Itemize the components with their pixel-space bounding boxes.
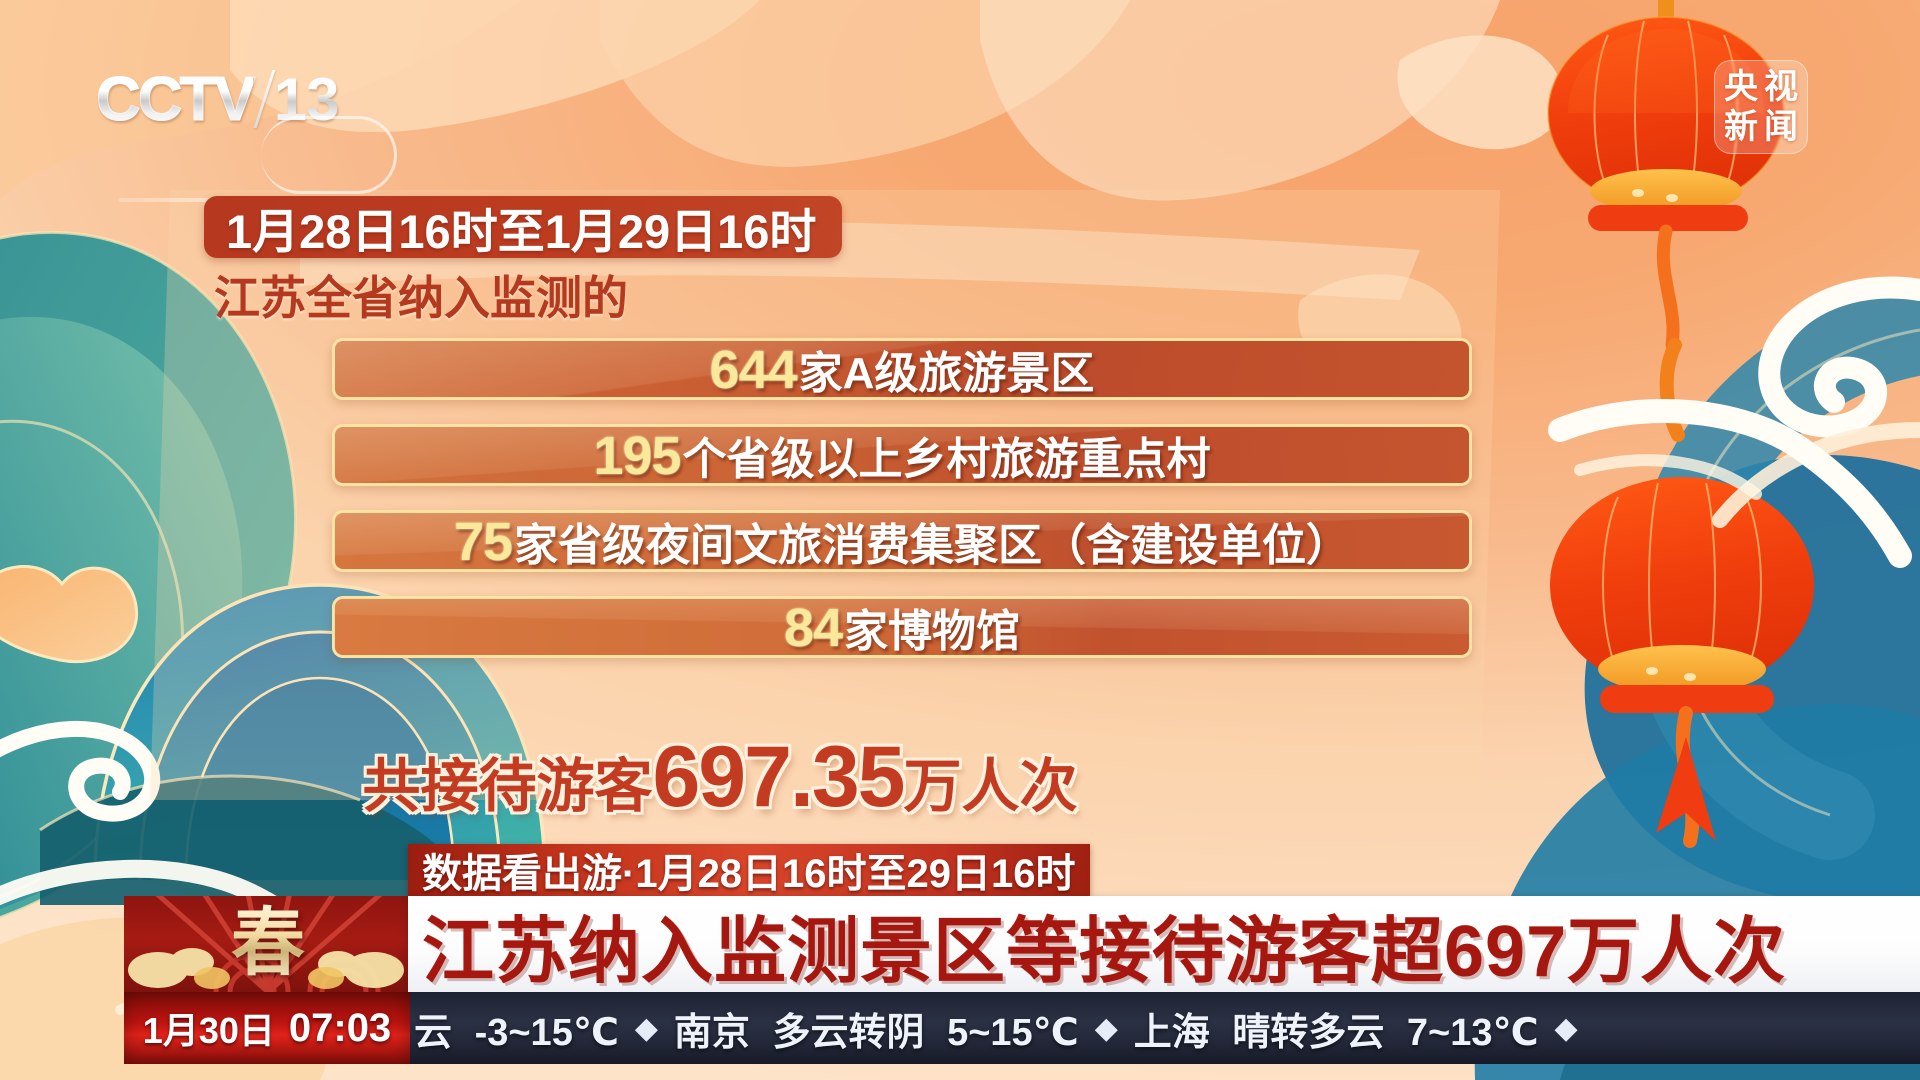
headline-text: 江苏纳入监测景区等接待游客超697万人次 <box>422 892 1786 997</box>
stat-bar-label: 75 家省级夜间文旅消费集聚区（含建设单位） <box>454 510 1350 572</box>
broadcast-screen: CCTV 13 新闻 央 视 新 闻 1月28日16时至1月29日16时 江苏全… <box>0 0 1920 1080</box>
weather-city: 南京 <box>674 1012 750 1054</box>
total-prefix: 共接待游客 <box>362 739 652 823</box>
lower-third-kicker: 数据看出游·1月28日16时至29日16时 <box>408 844 1090 896</box>
weather-separator-icon: ◆ <box>1095 1011 1118 1046</box>
weather-separator-icon: ◆ <box>635 1011 658 1046</box>
date-range-text: 1月28日16时至1月29日16时 <box>226 193 816 262</box>
stat-bar-label: 644 家A级旅游景区 <box>710 338 1095 400</box>
infographic-subtitle: 江苏全省纳入监测的 <box>214 262 628 328</box>
total-suffix: 万人次 <box>904 739 1078 823</box>
bottom-ticker: 1月30日 07:03 云 -3~15℃ ◆ 南京 多云转阴 5~15℃ ◆ 上… <box>124 992 1920 1064</box>
weather-separator-icon: ◆ <box>1555 1011 1578 1046</box>
stat-bar-label: 84 家博物馆 <box>784 596 1020 658</box>
stat-text: 家省级夜间文旅消费集聚区（含建设单位） <box>514 510 1350 572</box>
stat-number: 644 <box>710 339 797 400</box>
stat-bar: 644 家A级旅游景区 <box>332 338 1472 400</box>
lower-third-headline-bar: 江苏纳入监测景区等接待游客超697万人次 <box>408 896 1920 992</box>
stat-bar: 195 个省级以上乡村旅游重点村 <box>332 424 1472 486</box>
total-visitors-line: 共接待游客 697.35 万人次 <box>0 728 1440 827</box>
stat-text: 个省级以上乡村旅游重点村 <box>683 424 1211 486</box>
date-range-pill: 1月28日16时至1月29日16时 <box>204 196 842 258</box>
total-value: 697.35 <box>652 728 903 827</box>
weather-cond: 晴转多云 <box>1232 1012 1384 1054</box>
weather-scroll-strip: 云 -3~15℃ ◆ 南京 多云转阴 5~15℃ ◆ 上海 晴转多云 7~13℃… <box>410 1001 1594 1056</box>
weather-cond: 云 <box>414 1012 452 1054</box>
stat-bar: 84 家博物馆 <box>332 596 1472 658</box>
weather-temp: 5~15℃ <box>947 1012 1079 1054</box>
weather-item: 云 -3~15℃ <box>414 1001 619 1056</box>
stat-number: 75 <box>454 511 512 572</box>
weather-item: 南京 多云转阴 5~15℃ <box>674 1001 1079 1056</box>
weather-ticker[interactable]: 云 -3~15℃ ◆ 南京 多云转阴 5~15℃ ◆ 上海 晴转多云 7~13℃… <box>410 992 1920 1064</box>
spring-char: 春 <box>124 900 412 986</box>
ticker-date: 1月30日 <box>143 1002 275 1054</box>
kicker-text: 数据看出游·1月28日16时至29日16时 <box>422 841 1076 899</box>
stat-text: 家A级旅游景区 <box>799 338 1095 400</box>
weather-temp: 7~13℃ <box>1407 1012 1539 1054</box>
stat-number: 84 <box>784 597 842 658</box>
stat-bar-label: 195 个省级以上乡村旅游重点村 <box>593 424 1210 486</box>
weather-temp: -3~15℃ <box>475 1012 619 1054</box>
stat-number: 195 <box>593 425 680 486</box>
weather-city: 上海 <box>1134 1012 1210 1054</box>
stat-bar: 75 家省级夜间文旅消费集聚区（含建设单位） <box>332 510 1472 572</box>
weather-item: 上海 晴转多云 7~13℃ <box>1134 1001 1539 1056</box>
spring-festival-logo: 春 <box>124 896 412 992</box>
datetime-box: 1月30日 07:03 <box>124 992 410 1064</box>
ticker-time: 07:03 <box>289 1006 391 1051</box>
stat-text: 家博物馆 <box>844 596 1020 658</box>
weather-cond: 多云转阴 <box>773 1012 925 1054</box>
